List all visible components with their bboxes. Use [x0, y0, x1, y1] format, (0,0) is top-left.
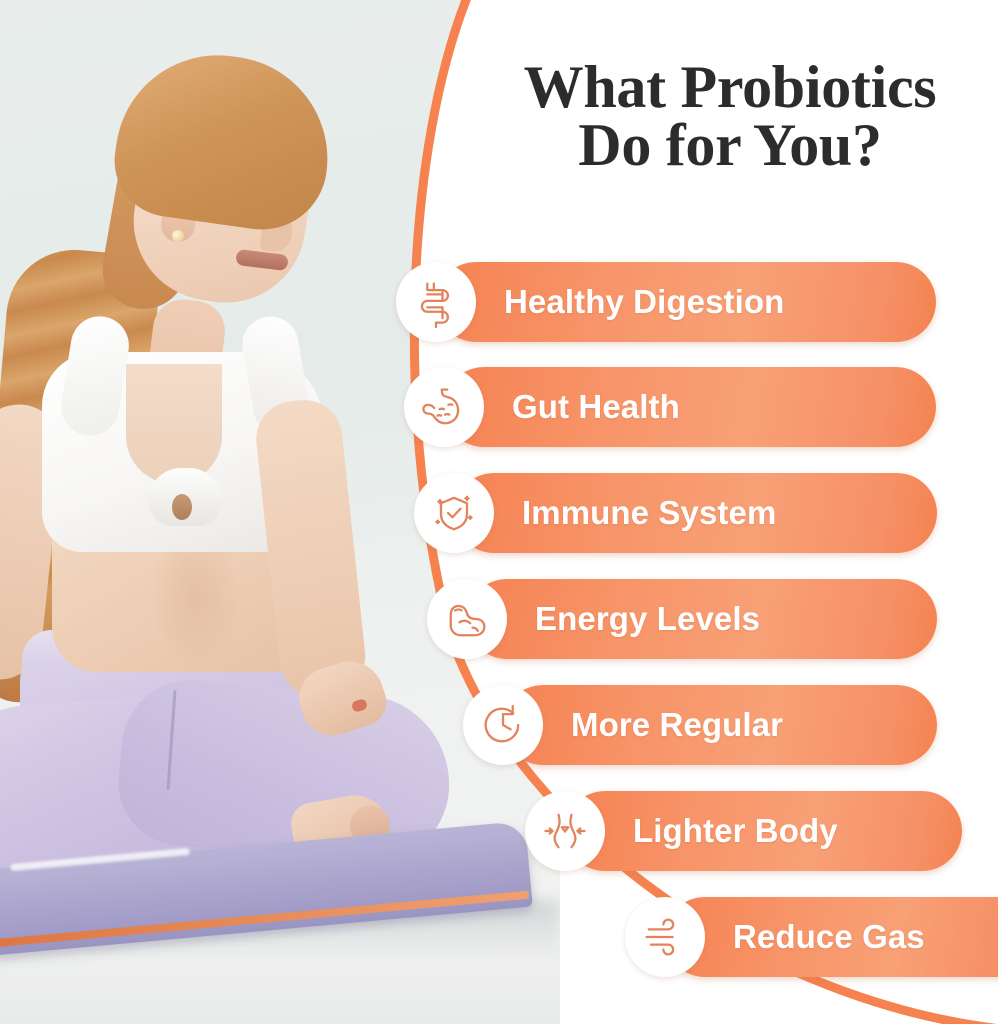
wind-lines-icon [625, 897, 705, 977]
list-item-label: More Regular [571, 685, 783, 765]
list-item-label: Energy Levels [535, 579, 760, 659]
slim-waist-icon [525, 791, 605, 871]
list-item-label: Gut Health [512, 367, 680, 447]
list-item-label: Reduce Gas [733, 897, 925, 977]
benefits-list: Healthy Digestion Gut Health [0, 0, 998, 1024]
clock-arrow-icon [463, 685, 543, 765]
intestines-icon [396, 262, 476, 342]
stomach-icon [404, 367, 484, 447]
list-item-label: Lighter Body [633, 791, 838, 871]
infographic-poster: What Probiotics Do for You? Healthy Dige… [0, 0, 998, 1024]
flexed-bicep-icon [427, 579, 507, 659]
shield-check-icon [414, 473, 494, 553]
list-item-label: Healthy Digestion [504, 262, 784, 342]
list-item-label: Immune System [522, 473, 776, 553]
